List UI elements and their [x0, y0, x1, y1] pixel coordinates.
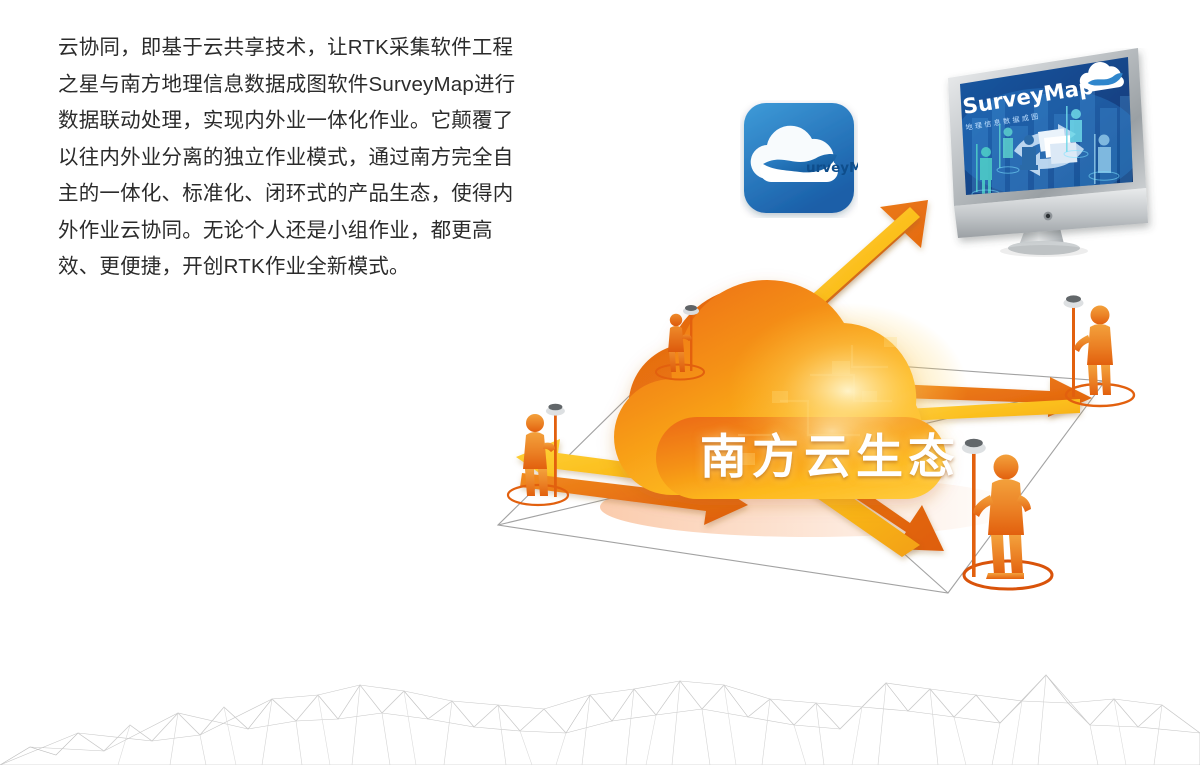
- rtk-pole-icon: [554, 413, 557, 497]
- copy-line: 主的一体化、标准化、闭环式的产品生态，使得内: [58, 176, 518, 213]
- poster-canvas: 云协同，即基于云共享技术，让RTK采集软件工程 之星与南方地理信息数据成图软件S…: [0, 0, 1200, 765]
- description-paragraph: 云协同，即基于云共享技术，让RTK采集软件工程 之星与南方地理信息数据成图软件S…: [58, 30, 518, 286]
- rtk-pole-icon: [1072, 305, 1075, 397]
- copy-line: 以往内外业分离的独立作业模式，通过南方完全自: [58, 140, 518, 177]
- cloud-glow-inner: [762, 391, 902, 471]
- copy-line: 效、更便捷，开创RTK作业全新模式。: [58, 249, 518, 286]
- copy-line: 数据联动处理，实现内外业一体化作业。它颠覆了: [58, 103, 518, 140]
- copy-line: 之星与南方地理信息数据成图软件SurveyMap进行: [58, 67, 518, 104]
- cloud-ecosystem-diagram: [480, 195, 1200, 635]
- surveyor-figure: [1074, 306, 1113, 396]
- wireframe-mountain-range: [0, 655, 1200, 765]
- app-icon-label: urveyMap: [806, 160, 858, 176]
- rtk-pole-icon: [690, 313, 692, 371]
- copy-line: 云协同，即基于云共享技术，让RTK采集软件工程: [58, 30, 518, 67]
- surveyor-front-right: [962, 439, 1052, 589]
- copy-line: 外作业云协同。无论个人还是小组作业，都更高: [58, 213, 518, 250]
